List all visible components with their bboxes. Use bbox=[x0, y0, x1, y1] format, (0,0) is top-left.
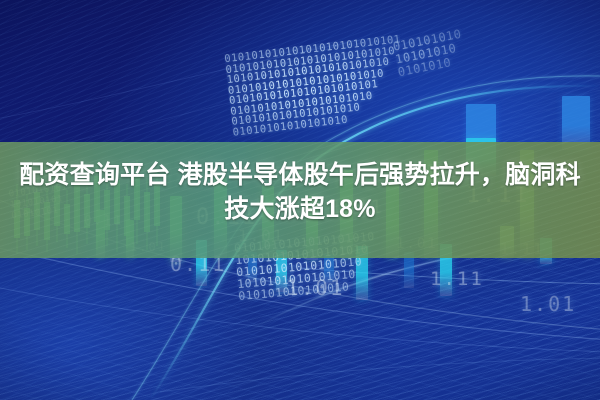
headline-line-1: 配资查询平台 港股半导体股午后强势拉升，脑洞科 bbox=[0, 158, 600, 192]
chart-bar bbox=[404, 252, 414, 288]
chart-bar bbox=[248, 252, 257, 282]
chart-bar bbox=[500, 226, 514, 258]
chart-bar bbox=[562, 96, 590, 150]
chart-bar bbox=[276, 250, 287, 292]
chart-bar bbox=[324, 254, 334, 284]
banner-image: 01010101010101010101010101 0101010101010… bbox=[0, 0, 600, 400]
chart-bar bbox=[440, 244, 452, 296]
headline: 配资查询平台 港股半导体股午后强势拉升，脑洞科 技大涨超18% bbox=[0, 158, 600, 226]
chart-bar bbox=[356, 246, 368, 300]
headline-line-2: 技大涨超18% bbox=[0, 192, 600, 226]
chart-bar bbox=[540, 238, 552, 264]
